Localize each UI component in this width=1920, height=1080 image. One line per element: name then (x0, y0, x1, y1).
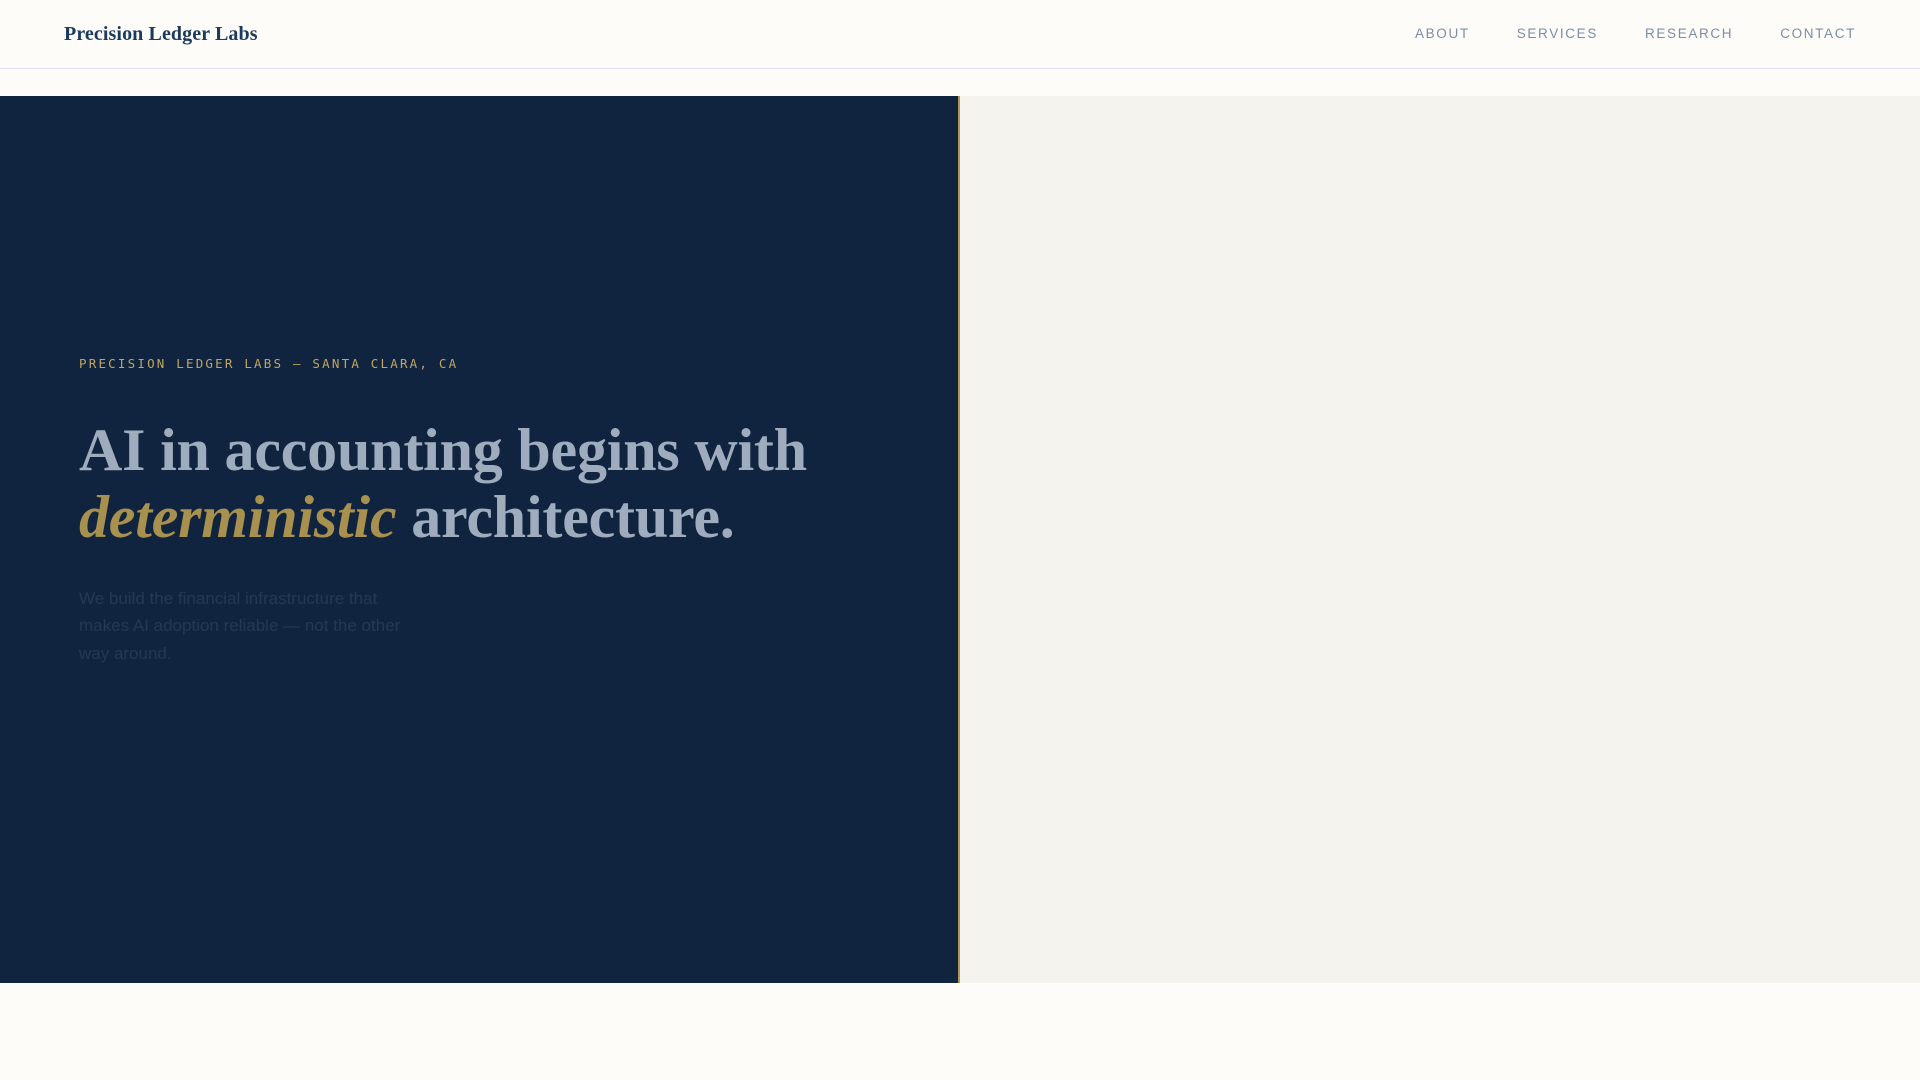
nav-link-contact[interactable]: CONTACT (1780, 27, 1856, 41)
hero-subtext: We build the financial infrastructure th… (79, 585, 424, 668)
hero-headline-line2-rest: architecture. (396, 484, 734, 550)
hero-right-panel (960, 96, 1920, 983)
hero-content: PRECISION LEDGER LABS — SANTA CLARA, CA … (79, 358, 839, 667)
hero-headline-accent-word: deterministic (79, 484, 396, 550)
hero-section: PRECISION LEDGER LABS — SANTA CLARA, CA … (0, 96, 1920, 983)
primary-navigation: ABOUT SERVICES RESEARCH CONTACT (1415, 27, 1856, 41)
site-header: Precision Ledger Labs ABOUT SERVICES RES… (0, 0, 1920, 69)
below-fold-strip (0, 983, 1920, 1080)
brand-logo[interactable]: Precision Ledger Labs (64, 23, 258, 46)
nav-link-research[interactable]: RESEARCH (1645, 27, 1733, 41)
hero-headline-line1: AI in accounting begins with (79, 417, 807, 483)
hero-headline: AI in accounting begins with determinist… (79, 417, 839, 551)
nav-link-services[interactable]: SERVICES (1517, 27, 1598, 41)
hero-left-panel: PRECISION LEDGER LABS — SANTA CLARA, CA … (0, 96, 958, 983)
hero-eyebrow: PRECISION LEDGER LABS — SANTA CLARA, CA (79, 358, 839, 371)
nav-link-about[interactable]: ABOUT (1415, 27, 1470, 41)
